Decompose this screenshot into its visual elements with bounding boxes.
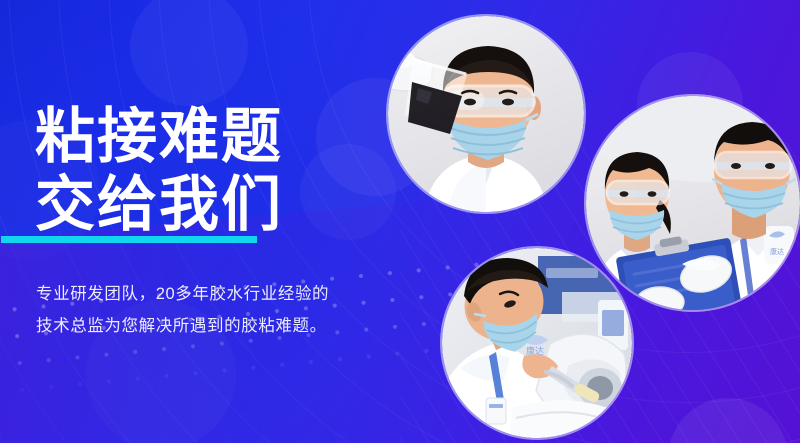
- photo-researchers-reviewing-clipboard: 康达: [586, 96, 800, 310]
- scientist-beaker-illustration: [388, 16, 584, 212]
- subtitle-line-2: 技术总监为您解决所遇到的胶粘难题。: [36, 310, 329, 342]
- headline-line-2: 交给我们: [35, 172, 283, 238]
- photo-scientist-holding-beaker: [388, 16, 584, 212]
- researchers-clipboard-illustration: 康达: [586, 96, 800, 310]
- subtitle-block: 专业研发团队，20多年胶水行业经验的 技术总监为您解决所遇到的胶粘难题。: [36, 278, 329, 342]
- subtitle-line-1: 专业研发团队，20多年胶水行业经验的: [36, 278, 329, 310]
- bokeh-circle-decor: [130, 0, 248, 106]
- svg-text:康达: 康达: [770, 247, 784, 256]
- photo-technician-applying-adhesive: 康达: [442, 248, 632, 438]
- bokeh-circle-decor: [668, 398, 788, 443]
- svg-text:康达: 康达: [526, 345, 544, 356]
- bokeh-circle-decor: [300, 144, 396, 240]
- technician-adhesive-illustration: 康达: [442, 248, 632, 438]
- promo-banner: 粘接难题 交给我们 专业研发团队，20多年胶水行业经验的 技术总监为您解决所遇到…: [0, 0, 800, 443]
- headline-block: 粘接难题 交给我们: [35, 104, 283, 238]
- headline-line-1: 粘接难题: [35, 104, 283, 170]
